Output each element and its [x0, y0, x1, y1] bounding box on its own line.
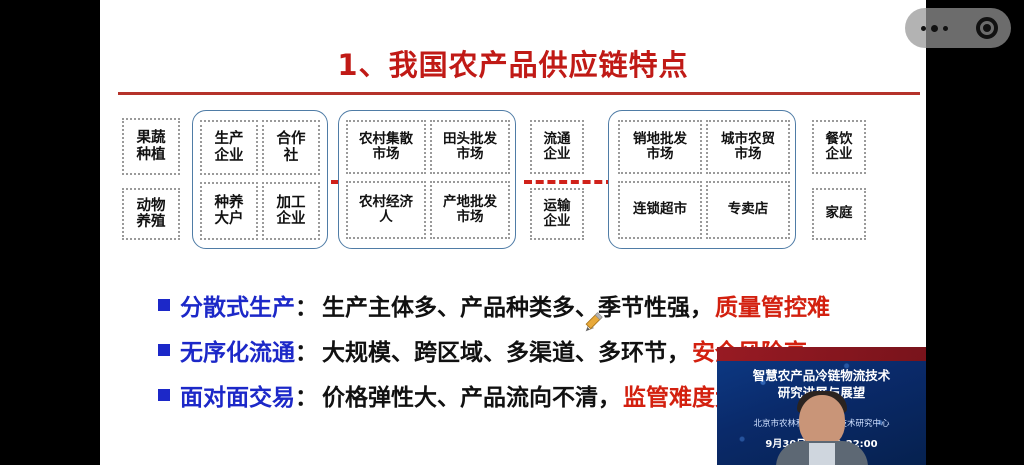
diagram-box-animal-breeding: 动物 养殖: [122, 188, 180, 240]
bullet-label-3: 面对面交易: [180, 378, 295, 412]
bullet-body-2: 大规模、跨区域、多渠道、多环节，: [322, 333, 690, 367]
screen-recording-view: 1、我国农产品供应链特点 果蔬 种植 动物 养殖 生产 企业 合作 社 种养 大…: [0, 0, 1024, 465]
presenter-video-overlay[interactable]: 智慧农产品冷链物流技术 研究进展与展望 杨 信 廷 北京市农林科学院信息技术研究…: [717, 347, 926, 465]
diagram-box-household: 家庭: [812, 188, 866, 240]
bullet-square-icon: [158, 389, 170, 401]
bullet-colon-3: ：: [295, 378, 318, 412]
title-divider: [118, 92, 920, 95]
presenter-face: [799, 395, 845, 447]
supply-chain-diagram: 果蔬 种植 动物 养殖 生产 企业 合作 社 种养 大户 加工 企业: [100, 104, 926, 254]
diagram-box-transport-enterprise: 运输 企业: [530, 188, 584, 240]
record-button-icon[interactable]: [976, 17, 998, 39]
bullet-square-icon: [158, 299, 170, 311]
diagram-box-cooperative: 合作 社: [262, 120, 320, 175]
bullet-square-icon: [158, 344, 170, 356]
bullet-label-2: 无序化流通: [180, 333, 295, 367]
diagram-box-distribution-enterprise: 流通 企业: [530, 120, 584, 174]
bullet-colon-2: ：: [295, 333, 318, 367]
diagram-box-catering-enterprise: 餐饮 企业: [812, 120, 866, 174]
diagram-box-processing-enterprise: 加工 企业: [262, 182, 320, 240]
video-banner-bar: [717, 347, 926, 361]
diagram-box-origin-wholesale-market: 产地批发 市场: [430, 181, 510, 239]
diagram-box-field-wholesale-market: 田头批发 市场: [430, 120, 510, 174]
more-options-icon[interactable]: [921, 25, 948, 32]
diagram-box-fruit-vegetable: 果蔬 种植: [122, 118, 180, 175]
diagram-box-specialty-store: 专卖店: [706, 181, 790, 239]
bullet-label-1: 分散式生产: [180, 288, 295, 322]
presenter-shirt: [809, 443, 835, 465]
bullet-colon-1: ：: [295, 288, 318, 322]
diagram-box-urban-farmers-market: 城市农贸 市场: [706, 120, 790, 174]
diagram-box-chain-supermarket: 连锁超市: [618, 181, 702, 239]
page-title: 1、我国农产品供应链特点: [100, 42, 926, 84]
diagram-box-rural-broker: 农村经济 人: [346, 181, 426, 239]
bullet-highlight-1: 质量管控难: [715, 288, 830, 322]
arrow-right-dashed-icon: [524, 180, 614, 184]
floating-controls-pill[interactable]: [905, 8, 1011, 48]
bullet-item-1: 分散式生产 ： 生产主体多、产品种类多、季节性强， 质量管控难: [100, 282, 926, 327]
bullet-body-1: 生产主体多、产品种类多、季节性强，: [322, 288, 713, 322]
diagram-box-rural-collection-market: 农村集散 市场: [346, 120, 426, 174]
diagram-box-production-enterprise: 生产 企业: [200, 120, 258, 175]
diagram-box-sales-wholesale-market: 销地批发 市场: [618, 120, 702, 174]
diagram-box-large-household: 种养 大户: [200, 182, 258, 240]
bullet-body-3: 价格弹性大、产品流向不清，: [322, 378, 621, 412]
